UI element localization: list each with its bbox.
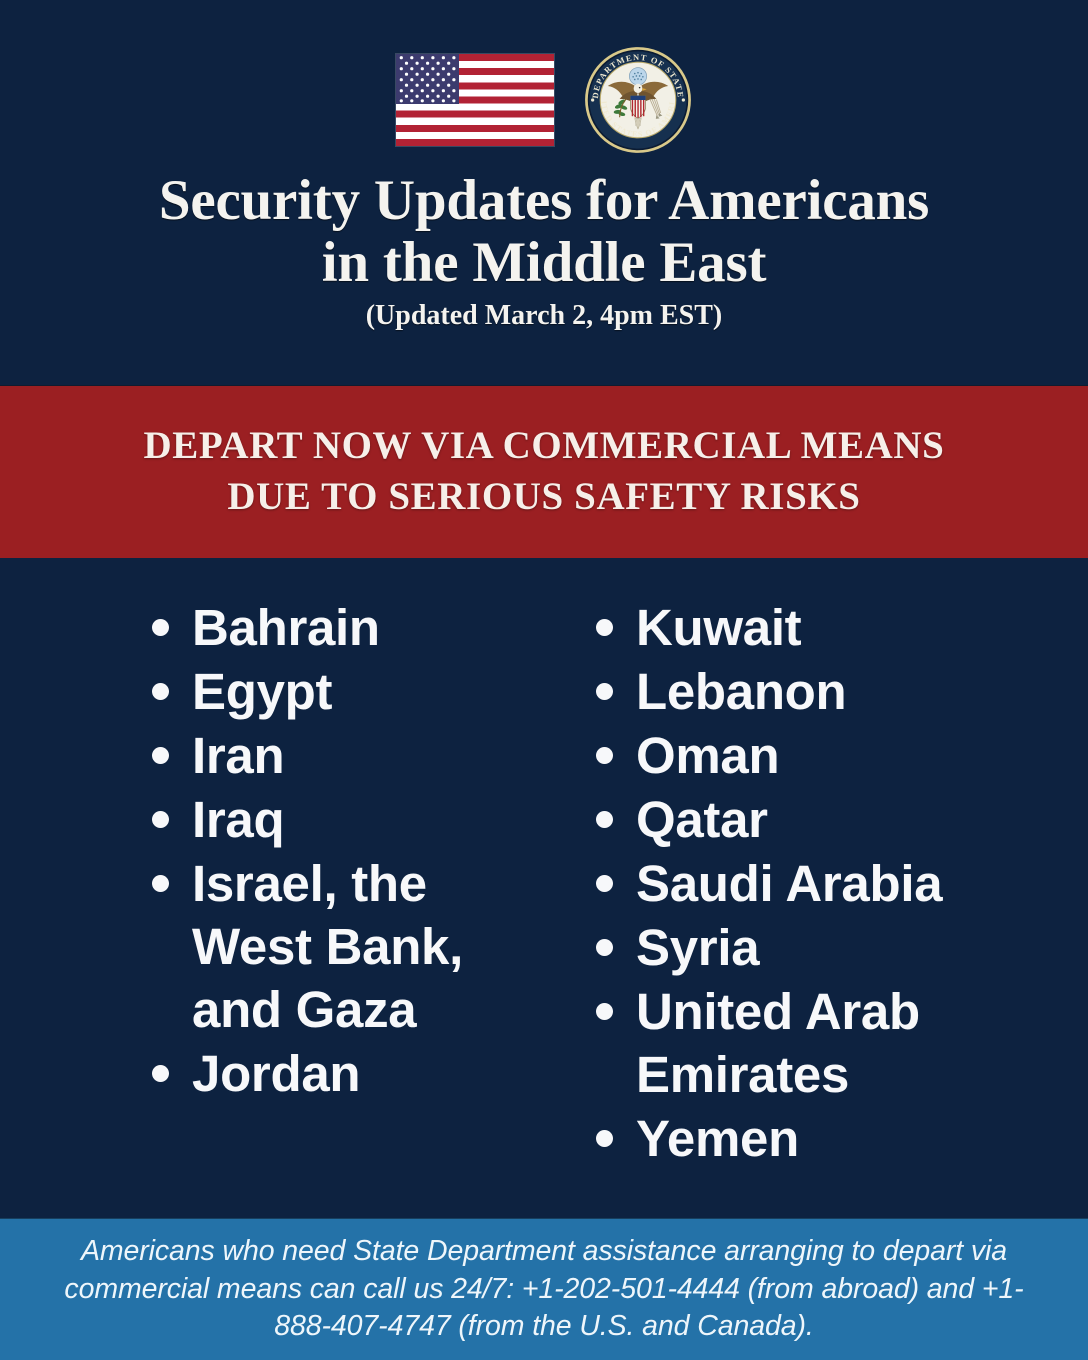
list-item: Egypt — [152, 660, 544, 723]
bullet-icon — [152, 811, 169, 828]
list-item: Jordan — [152, 1042, 544, 1105]
country-name: Jordan — [192, 1042, 360, 1105]
country-name: Saudi Arabia — [636, 852, 942, 915]
footer-section: Americans who need State Department assi… — [0, 1218, 1088, 1360]
update-timestamp: (Updated March 2, 4pm EST) — [366, 301, 723, 332]
title-line-1: Security Updates for Americans — [159, 170, 929, 232]
us-flag-icon — [396, 54, 554, 146]
bullet-icon — [596, 939, 613, 956]
country-list-right-column: Kuwait Lebanon Oman Qatar Saudi Arabia S… — [544, 596, 1088, 1218]
country-name: Qatar — [636, 788, 768, 851]
list-item: Iran — [152, 724, 544, 787]
list-item: Iraq — [152, 788, 544, 851]
list-item: Bahrain — [152, 596, 544, 659]
list-item: Yemen — [596, 1107, 1088, 1170]
alert-banner: DEPART NOW VIA COMMERCIAL MEANS DUE TO S… — [0, 385, 1088, 558]
bullet-icon — [596, 683, 613, 700]
country-name: Oman — [636, 724, 779, 787]
bullet-icon — [152, 875, 169, 892]
us-department-of-state-seal-icon: DEPARTMENT OF STATE UNITED STATES OF AME… — [584, 46, 692, 154]
country-lists: Bahrain Egypt Iran Iraq Israel, the West… — [0, 558, 1088, 1218]
bullet-icon — [596, 619, 613, 636]
country-name: Kuwait — [636, 596, 801, 659]
country-name: Iran — [192, 724, 284, 787]
country-name: Egypt — [192, 660, 332, 723]
poster-root: DEPARTMENT OF STATE UNITED STATES OF AME… — [0, 0, 1088, 1360]
country-name: Iraq — [192, 788, 284, 851]
list-item: United Arab Emirates — [596, 980, 1088, 1106]
bullet-icon — [152, 683, 169, 700]
bullet-icon — [596, 1130, 613, 1147]
alert-banner-line-1: DEPART NOW VIA COMMERCIAL MEANS — [114, 424, 975, 469]
list-item: Qatar — [596, 788, 1088, 851]
assistance-note: Americans who need State Department assi… — [50, 1233, 1038, 1347]
bullet-icon — [596, 811, 613, 828]
country-name: Yemen — [636, 1107, 799, 1170]
emblem-row: DEPARTMENT OF STATE UNITED STATES OF AME… — [396, 46, 692, 154]
list-item: Kuwait — [596, 596, 1088, 659]
list-item: Israel, the West Bank, and Gaza — [152, 852, 544, 1041]
list-item: Saudi Arabia — [596, 852, 1088, 915]
list-item: Lebanon — [596, 660, 1088, 723]
header-section: DEPARTMENT OF STATE UNITED STATES OF AME… — [0, 0, 1088, 385]
bullet-icon — [152, 747, 169, 764]
country-name: Syria — [636, 916, 759, 979]
bullet-icon — [596, 875, 613, 892]
bullet-icon — [596, 1003, 613, 1020]
bullet-icon — [152, 1065, 169, 1082]
bullet-icon — [596, 747, 613, 764]
bullet-icon — [152, 619, 169, 636]
alert-banner-line-2: DUE TO SERIOUS SAFETY RISKS — [197, 475, 890, 520]
country-name: Lebanon — [636, 660, 846, 723]
flag-stars — [396, 54, 459, 104]
list-item: Syria — [596, 916, 1088, 979]
country-list-left-column: Bahrain Egypt Iran Iraq Israel, the West… — [0, 596, 544, 1218]
page-title: Security Updates for Americans in the Mi… — [99, 170, 989, 294]
country-name: Israel, the West Bank, and Gaza — [192, 852, 522, 1041]
title-line-2: in the Middle East — [159, 232, 929, 294]
country-name: Bahrain — [192, 596, 380, 659]
country-name: United Arab Emirates — [636, 980, 996, 1106]
list-item: Oman — [596, 724, 1088, 787]
